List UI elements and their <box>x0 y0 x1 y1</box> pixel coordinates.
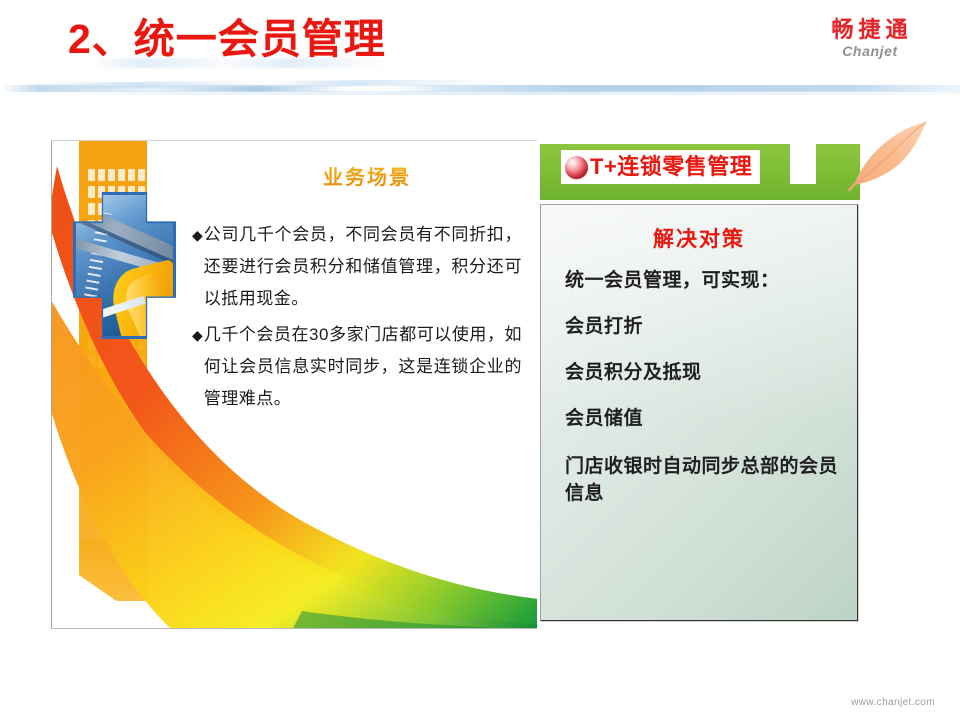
list-item: ◆ 几千个会员在30多家门店都可以使用，如何让会员信息实时同步，这是连锁企业的管… <box>192 319 522 415</box>
footer-url: www.chanjet.com <box>851 697 935 708</box>
solution-line: 门店收银时自动同步总部的会员信息 <box>565 453 845 507</box>
product-banner-label: T+连锁零售管理 <box>590 154 752 180</box>
solution-line-list: 统一会员管理，可实现： 会员打折 会员积分及抵现 会员储值 门店收银时自动同步总… <box>565 269 845 507</box>
list-item-text: 公司几千个会员，不同会员有不同折扣，还要进行会员积分和储值管理，积分还可以抵用现… <box>204 219 522 315</box>
page-title: 2、统一会员管理 <box>68 14 488 64</box>
solution-card: 解决对策 统一会员管理，可实现： 会员打折 会员积分及抵现 会员储值 门店收银时… <box>540 204 858 621</box>
diamond-bullet-icon: ◆ <box>192 219 203 251</box>
header-divider-band-soft <box>0 91 960 95</box>
business-scenario-bullet-list: ◆ 公司几千个会员，不同会员有不同折扣，还要进行会员积分和储值管理，积分还可以抵… <box>192 219 522 419</box>
orange-band-taper <box>79 539 147 601</box>
slide-canvas: 2、统一会员管理 畅捷通 Chanjet <box>0 0 960 720</box>
solution-line: 会员积分及抵现 <box>565 361 845 385</box>
feather-quill-icon <box>846 119 932 191</box>
photo-red-accent <box>78 294 94 336</box>
solution-line: 会员储值 <box>565 407 845 431</box>
card-bottom-rule <box>52 628 537 629</box>
scenario-photo <box>73 192 176 339</box>
brand-logo: 畅捷通 Chanjet <box>806 17 938 60</box>
business-scenario-card: 业务场景 ◆ 公司几千个会员，不同会员有不同折扣，还要进行会员积分和储值管理，积… <box>51 140 537 629</box>
list-item: ◆ 公司几千个会员，不同会员有不同折扣，还要进行会员积分和储值管理，积分还可以抵… <box>192 219 522 315</box>
solution-line: 统一会员管理，可实现： <box>565 269 845 293</box>
header-divider <box>0 80 960 96</box>
solution-heading: 解决对策 <box>541 223 857 253</box>
photo-image <box>76 195 173 336</box>
brand-logo-latin: Chanjet <box>806 43 934 60</box>
solution-line: 会员打折 <box>565 315 845 339</box>
brand-logo-chinese: 畅捷通 <box>806 17 938 42</box>
header-haze-decoration <box>90 58 390 68</box>
product-banner-plate: T+连锁零售管理 <box>561 150 760 184</box>
diamond-bullet-icon: ◆ <box>192 319 203 351</box>
business-scenario-heading: 业务场景 <box>222 161 512 190</box>
red-sphere-bullet-icon <box>565 156 588 179</box>
product-banner-notch <box>790 144 816 184</box>
list-item-text: 几千个会员在30多家门店都可以使用，如何让会员信息实时同步，这是连锁企业的管理难… <box>204 319 522 415</box>
